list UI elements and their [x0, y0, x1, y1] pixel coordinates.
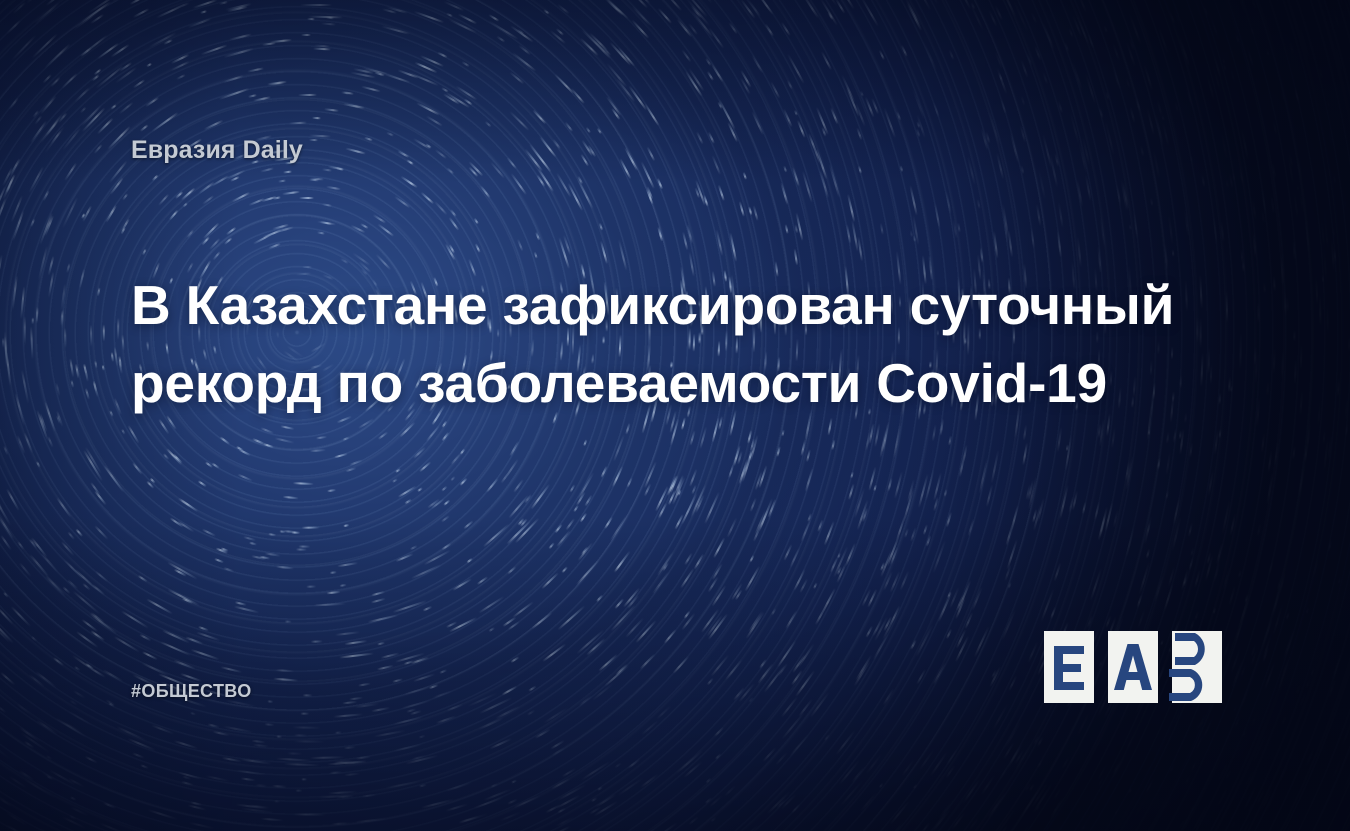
logo-letter-e-icon	[1052, 644, 1086, 690]
logo-tile-a	[1108, 631, 1158, 703]
logo-letter-d-split-icon	[1165, 631, 1229, 703]
logo-tile-e	[1044, 631, 1094, 703]
logo-tile-d	[1172, 631, 1222, 703]
page-title: В Казахстане зафиксирован суточный рекор…	[131, 266, 1191, 422]
category-hashtag[interactable]: #ОБЩЕСТВО	[131, 681, 252, 702]
logo-letter-a-icon	[1114, 644, 1152, 690]
eadaily-logo[interactable]	[1044, 631, 1222, 703]
brand-name: Евразия Daily	[131, 136, 303, 165]
news-card: Евразия Daily В Казахстане зафиксирован …	[0, 0, 1350, 831]
